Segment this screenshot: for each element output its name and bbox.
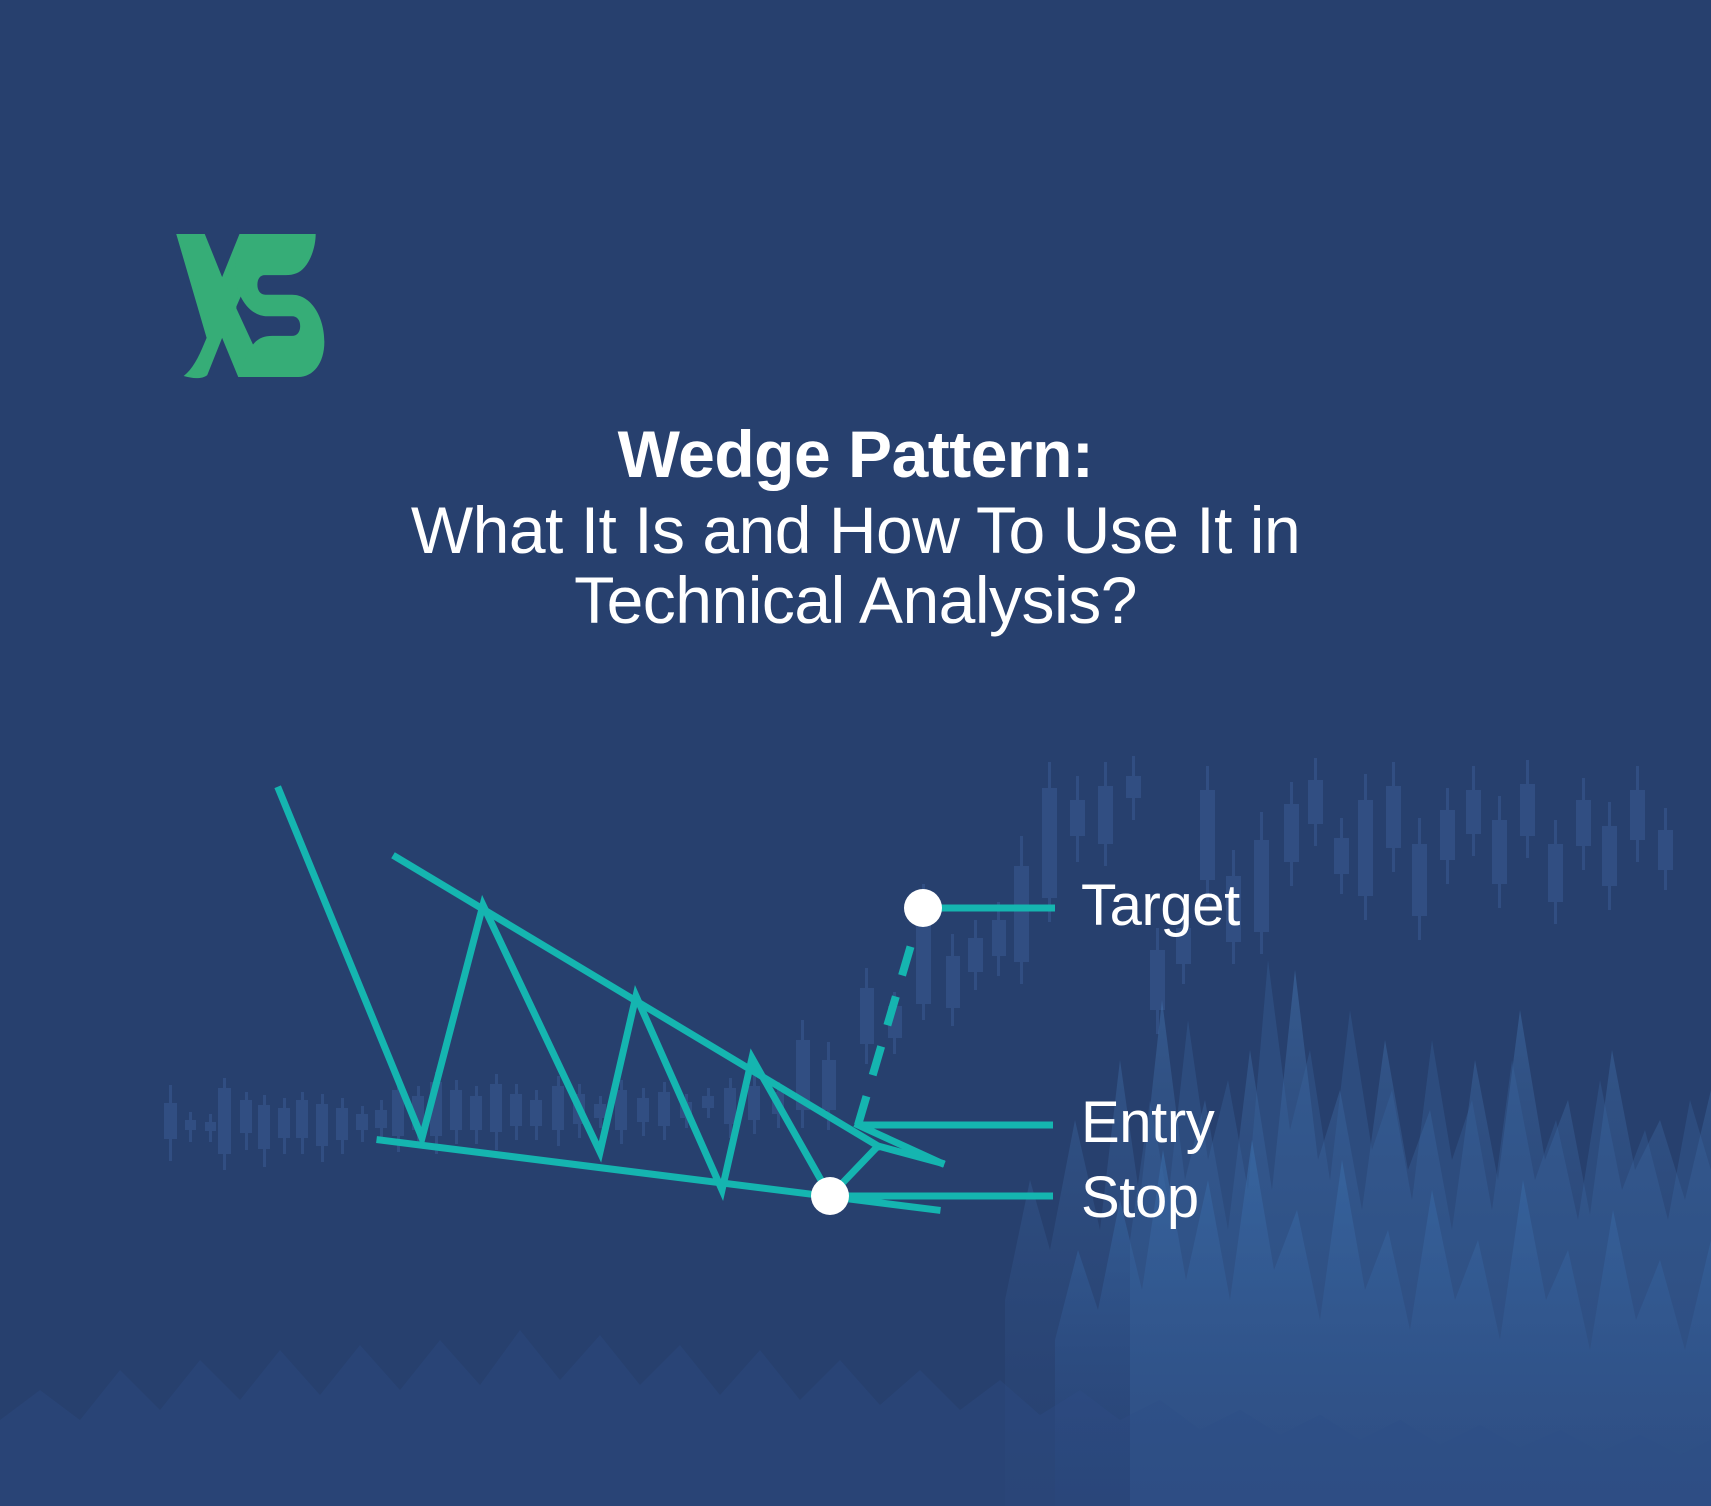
poster-canvas: Wedge Pattern: What It Is and How To Use… [0,0,1711,1506]
wedge-pattern-diagram [0,0,1711,1506]
entry-label: Entry [1081,1089,1214,1156]
stop-marker-dot [811,1177,849,1215]
price-action-line [279,790,941,1196]
target-label: Target [1081,872,1240,939]
breakout-projection-dashed [858,928,916,1125]
target-marker-dot [904,889,942,927]
stop-label: Stop [1081,1164,1199,1231]
upper-trendline [396,857,878,1146]
